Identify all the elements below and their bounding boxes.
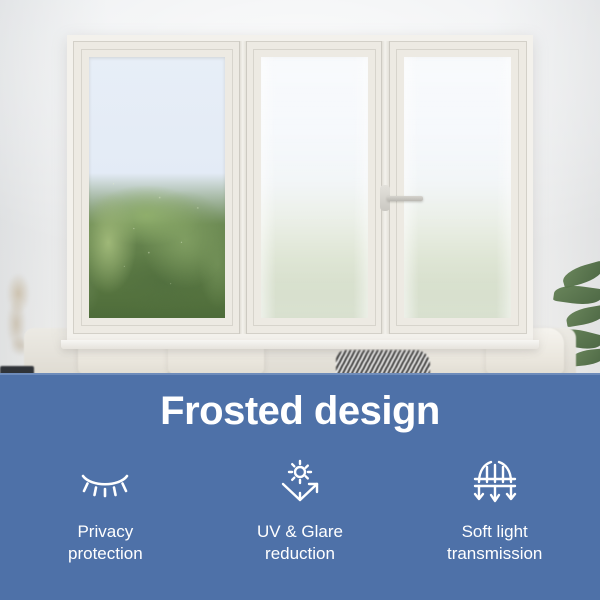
feature-item-uv-glare: UV & Glare reduction (203, 457, 398, 565)
feature-label-privacy: Privacy protection (68, 521, 143, 565)
feature-label-uv-glare: UV & Glare reduction (257, 521, 343, 565)
window-sash-left (73, 41, 241, 334)
frost-edge-sheen (404, 57, 511, 318)
window-sash-right (388, 41, 527, 334)
window (67, 35, 533, 340)
feature-label-soft-light: Soft light transmission (447, 521, 542, 565)
banner-title: Frosted design (0, 389, 600, 434)
glass-pane-frosted-middle (261, 57, 368, 318)
product-feature-card: Frosted design Privacy protection (0, 0, 600, 600)
frost-edge-sheen (261, 57, 368, 318)
feature-item-privacy: Privacy protection (8, 457, 203, 565)
feature-banner: Frosted design Privacy protection (0, 373, 600, 600)
feature-item-soft-light: Soft light transmission (397, 457, 592, 565)
interior-room-photo (0, 0, 600, 378)
soft-light-transmission-icon (469, 457, 521, 507)
glass-pane-clear (89, 57, 225, 318)
tree-foliage-highlights (89, 146, 225, 318)
glass-pane-frosted-right (404, 57, 511, 318)
feature-list: Privacy protection (8, 457, 592, 565)
mullion-left (239, 41, 247, 334)
window-sill (61, 340, 539, 349)
closed-eye-icon (77, 457, 133, 507)
uv-glare-sun-arrow-icon (275, 457, 325, 507)
window-sash-middle (245, 41, 384, 334)
window-handle[interactable] (387, 196, 423, 201)
